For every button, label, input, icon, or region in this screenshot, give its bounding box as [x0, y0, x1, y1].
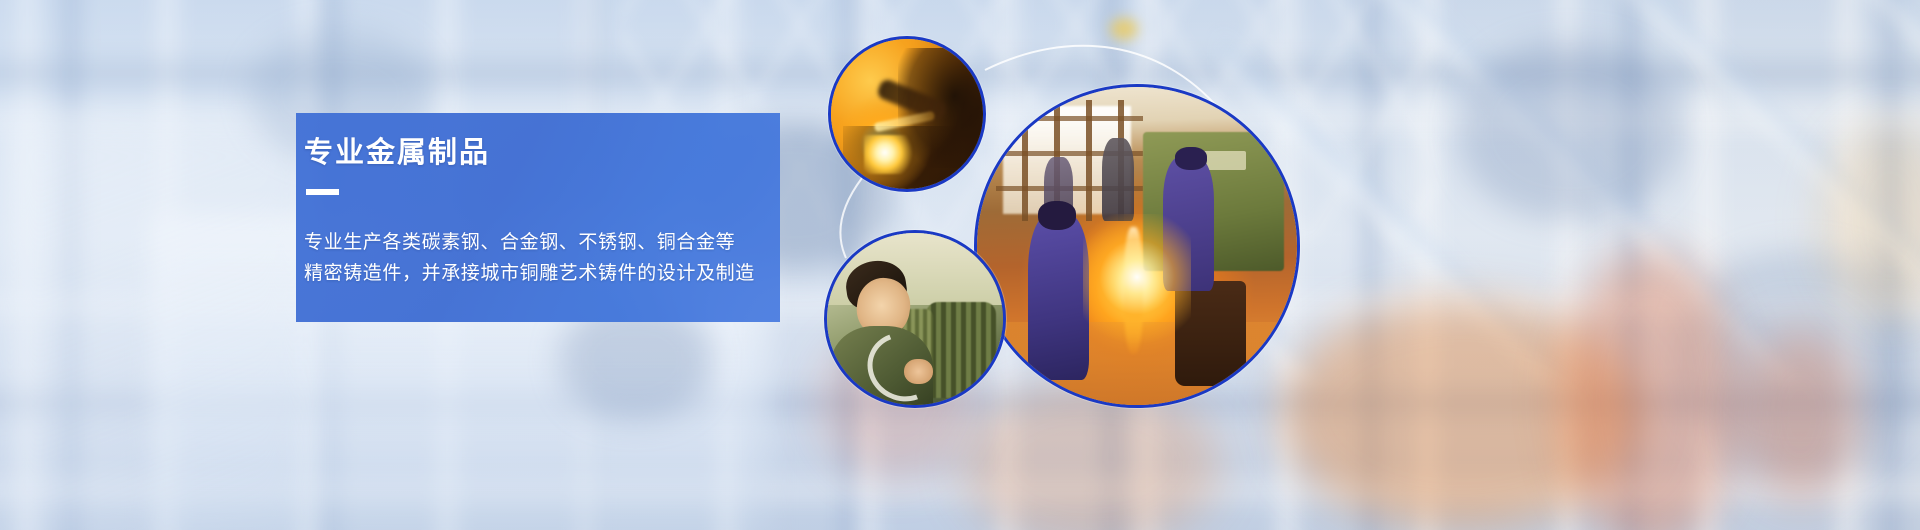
hero-banner: 专业金属制品 专业生产各类碳素钢、合金钢、不锈钢、铜合金等 精密铸造件，并承接城…	[0, 0, 1920, 530]
molten-glow	[1083, 214, 1192, 354]
cast-metal-parts	[926, 302, 996, 398]
foundry-photo-circle	[974, 84, 1300, 408]
description-line-2: 精密铸造件，并承接城市铜雕艺术铸件的设计及制造	[304, 258, 774, 289]
foundry-worker-helmet	[1175, 147, 1207, 169]
worker-photo-circle	[824, 230, 1006, 408]
foundry-worker	[1028, 214, 1089, 379]
foundry-worker-helmet	[1038, 201, 1076, 230]
title-divider	[306, 189, 339, 195]
page-title: 专业金属制品	[304, 139, 490, 168]
description-line-1: 专业生产各类碳素钢、合金钢、不锈钢、铜合金等	[304, 227, 774, 258]
foundry-worker	[1102, 138, 1134, 221]
welding-spark	[864, 135, 916, 174]
welding-photo-circle	[828, 36, 986, 192]
text-panel-content: 专业金属制品 专业生产各类碳素钢、合金钢、不锈钢、铜合金等 精密铸造件，并承接城…	[296, 113, 780, 322]
panel-description: 专业生产各类碳素钢、合金钢、不锈钢、铜合金等 精密铸造件，并承接城市铜雕艺术铸件…	[304, 227, 774, 289]
